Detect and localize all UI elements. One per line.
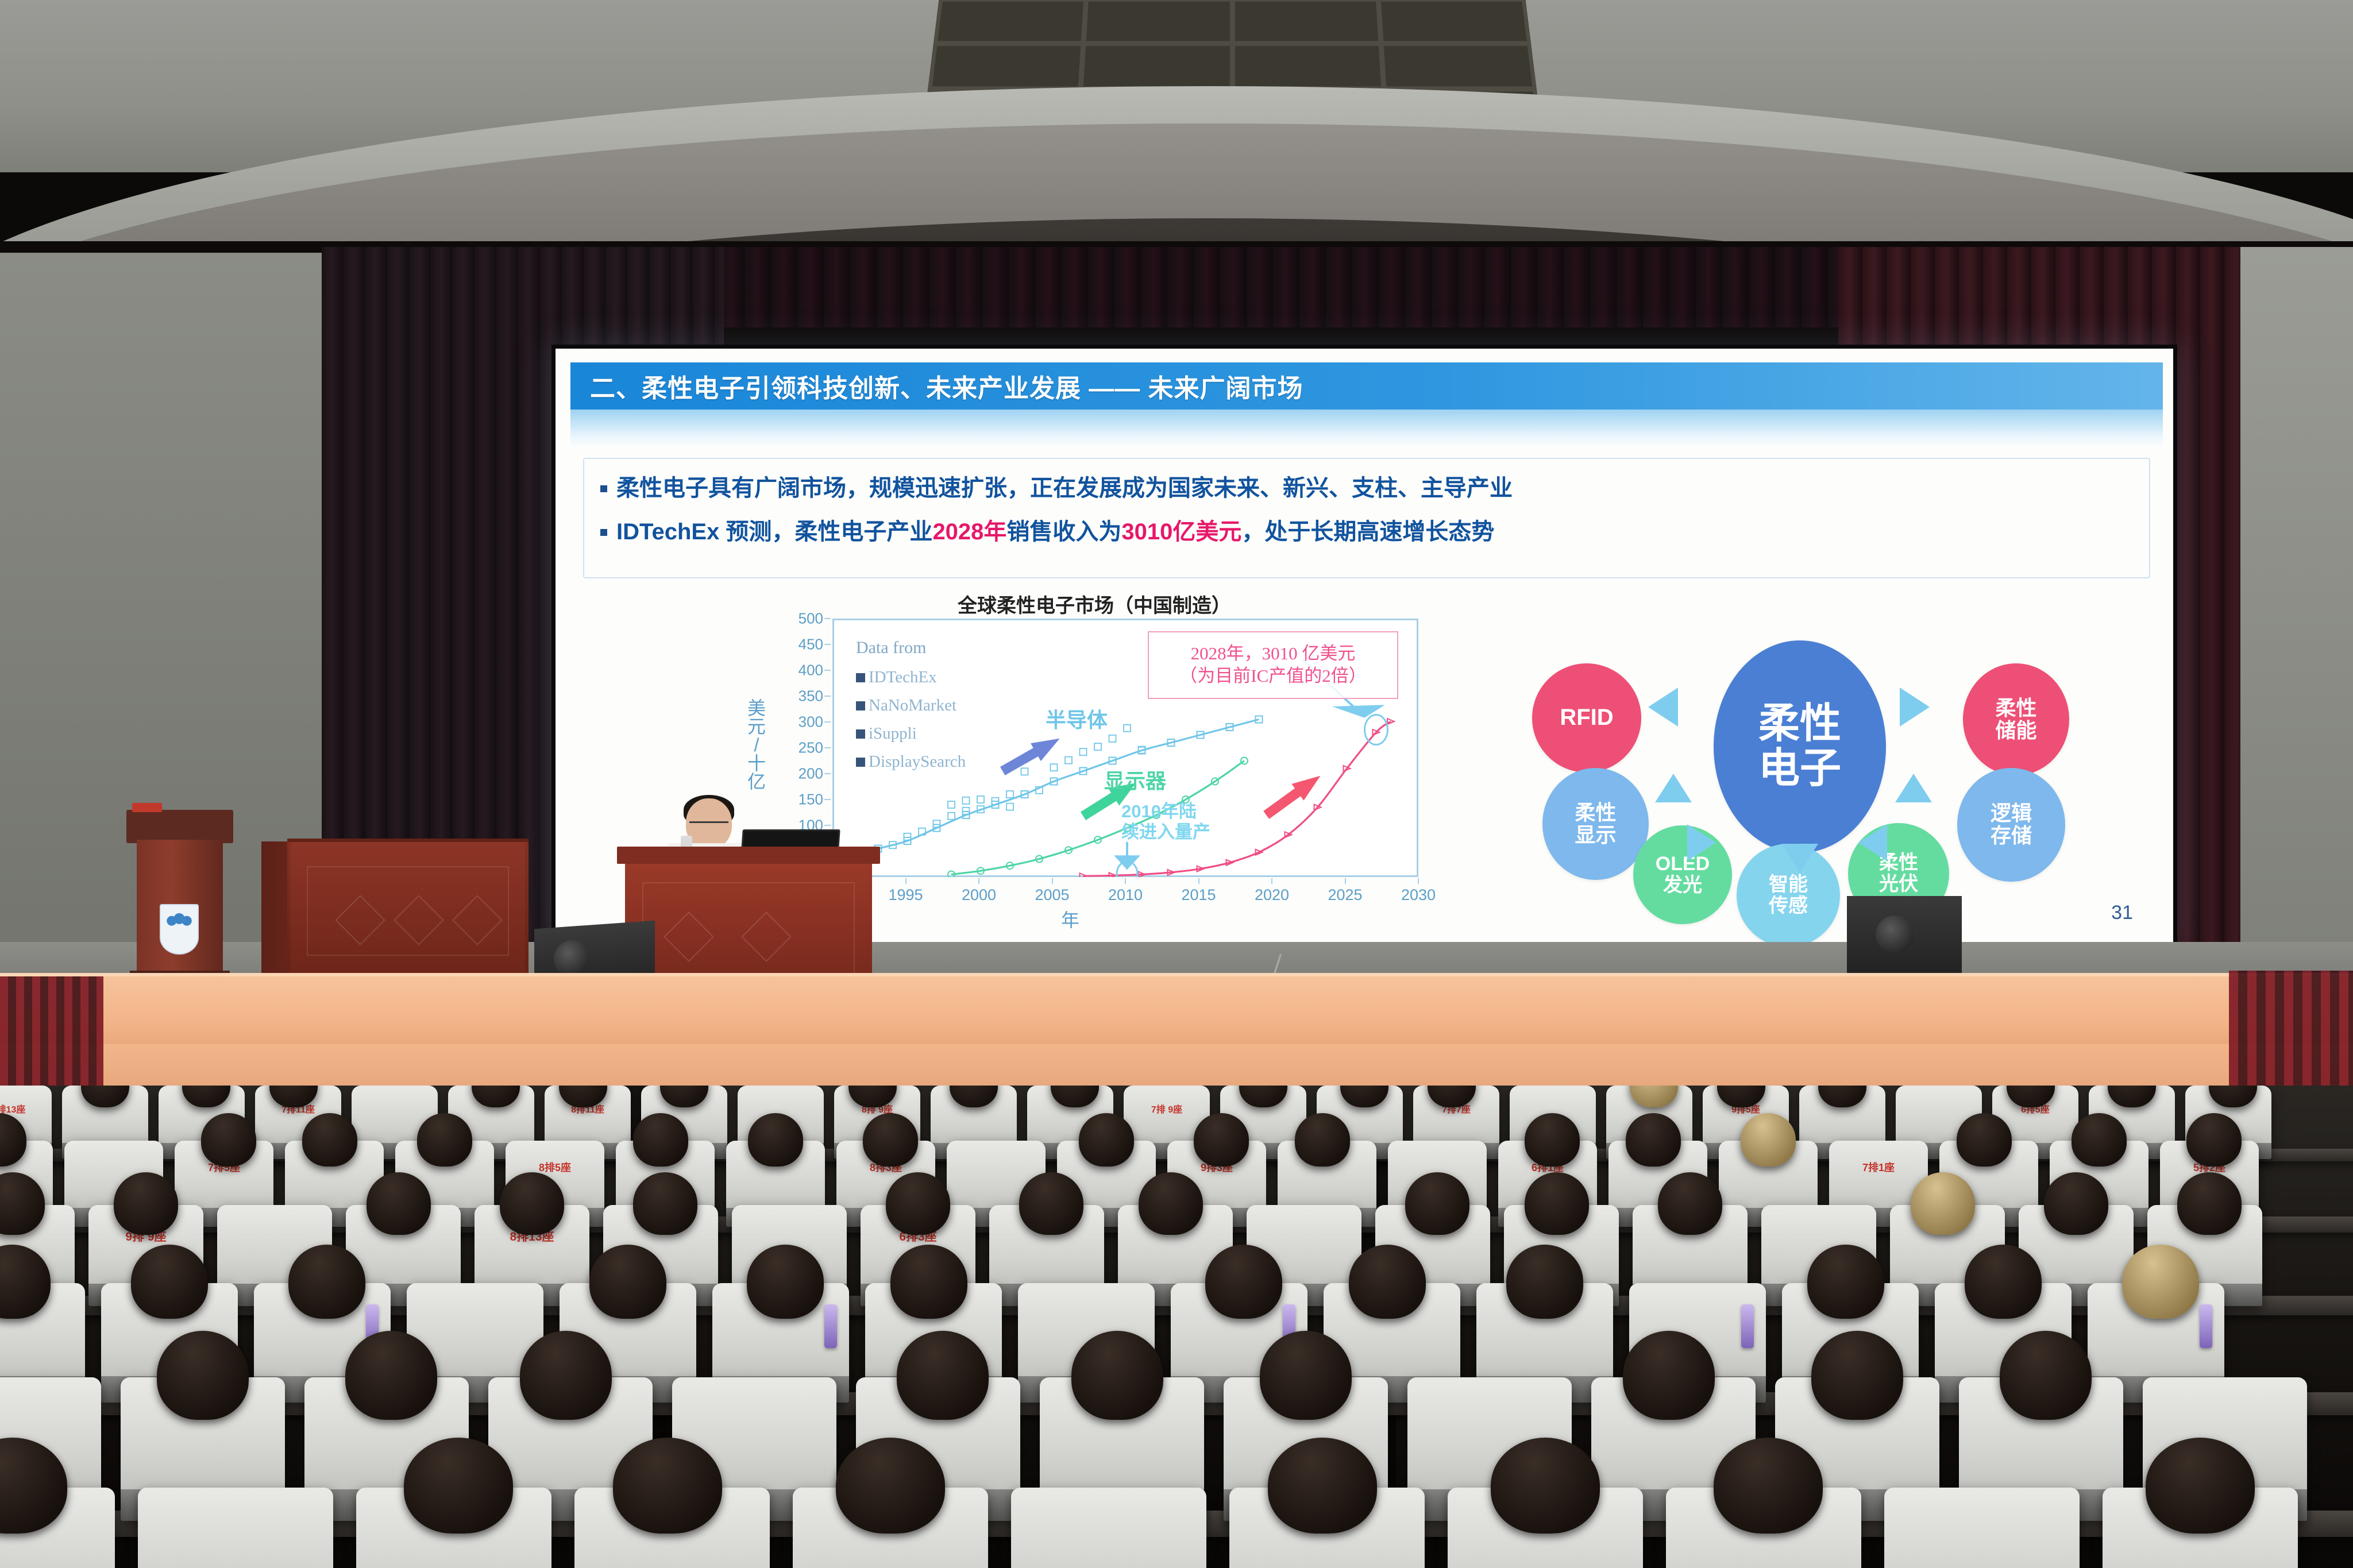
audience-member [1714,1438,1823,1534]
desk-ledge [617,847,880,864]
audience-member [589,1245,666,1319]
audience-member [201,1113,256,1167]
bubble-arrow-icon [1900,688,1930,727]
bubble-flexible-storage[interactable]: 柔性储能 [1963,663,2069,775]
bubble-oled-emission[interactable]: OLED发光 [1633,825,1732,924]
slide-title-gradient [570,410,2163,447]
y-axis-label-char: 亿 [739,773,774,791]
x-tick-mark [1418,878,1419,884]
scatter-point [1006,804,1013,810]
water-bottle [2200,1304,2212,1348]
audience-member [1071,1331,1163,1420]
chart-heading: 全球柔性电子市场（中国制造） [958,590,1231,618]
bullet2-year-highlight: 2028年 [932,519,1006,544]
y-axis-label-char: 美 [739,699,774,717]
bubble-label-line1: 逻辑 [1991,802,2032,825]
water-bottle [824,1304,837,1348]
seat-label: 8排5座 [506,1160,604,1175]
audience-member [748,1113,803,1167]
audience-member [1911,1172,1975,1235]
audience-member [633,1172,697,1235]
audience-member [1491,1438,1600,1534]
audience-member [863,1113,918,1167]
audience-member [1405,1172,1469,1235]
audience-member [404,1438,513,1534]
callout-line-2: （为目前IC产值的2倍） [1179,665,1367,688]
y-tick-label: 450 [799,636,823,654]
chart-x-axis-label: 年 [1061,906,1079,932]
bubble-arrow-icon [1895,774,1932,802]
audience-seat[interactable] [138,1488,333,1568]
bubble-flexible-display[interactable]: 柔性显示 [1542,768,1649,880]
bullet2-value-highlight: 3010亿美元 [1121,519,1241,544]
audience-member [2146,1438,2255,1534]
audience-member [2122,1245,2198,1319]
x-tick-label: 2030 [1401,886,1436,904]
mass-production-label: 2010年陆 续进入量产 [1121,801,1210,842]
scatter-point [948,813,955,820]
audience-member [2177,1172,2242,1235]
bubble-arrow-icon [1655,774,1692,802]
audience-member [417,1113,472,1167]
audience-member [747,1245,823,1319]
presenter-glasses [689,821,728,828]
x-tick-label: 2015 [1181,886,1216,904]
bullet-text-1: 柔性电子具有广阔市场，规模迅速扩张，正在发展成为国家未来、新兴、支柱、主导产业 [616,474,1513,503]
audience-member [2072,1113,2127,1167]
audience-member [886,1172,950,1235]
bubble-label-line2: 光伏 [1879,874,1918,895]
audience-member [345,1331,437,1420]
slide-title: 二、柔性电子引领科技创新、未来产业发展 —— 未来广阔市场 [570,368,1303,404]
bullet-text-2: IDTechEx 预测，柔性电子产业2028年销售收入为3010亿美元，处于长期… [616,517,1494,546]
audience-member [836,1438,945,1534]
x-tick-label: 1995 [888,886,923,904]
callout-line-1: 2028年，3010 亿美元 [1191,643,1356,665]
y-tick-mark [824,721,831,723]
audience-seating: 7排13座7排11座8排11座8排 9座7排 9座7排7座9排5座6排5座7排5… [0,1086,2353,1568]
audience-member [1268,1438,1377,1534]
lectern [137,810,223,982]
audience-member [1957,1113,2012,1167]
audience-member [1658,1172,1722,1235]
scatter-point [1124,725,1131,732]
audience-member [131,1245,207,1319]
scatter-point [977,796,984,803]
audience-member [1965,1245,2041,1319]
y-axis-label-char: 十 [739,754,774,773]
slide-title-bar: 二、柔性电子引领科技创新、未来产业发展 —— 未来广阔市场 [570,362,2163,410]
slide-bullet-list: 柔性电子具有广阔市场，规模迅速扩张，正在发展成为国家未来、新兴、支柱、主导产业 … [583,458,2150,578]
lectern-top [126,810,233,843]
x-tick-mark [1198,878,1199,884]
audience-member [1019,1172,1083,1235]
bubble-arrow-icon [1648,688,1678,727]
scatter-point [948,801,955,808]
audience-member [520,1331,612,1420]
audience-member [2044,1172,2108,1235]
lectern-red-marker [132,803,162,812]
y-tick-label: 300 [799,713,823,731]
audience-seat[interactable] [1884,1488,2080,1568]
bubble-label-line2: 显示 [1575,824,1616,847]
y-tick-mark [824,773,831,774]
y-axis-label-char: / [739,736,774,754]
stage-apron [0,976,2353,1045]
bubble-label-line2: 发光 [1656,875,1710,896]
bubble-center-line1: 柔性 [1758,702,1841,747]
bullet-square-icon [600,485,607,492]
bubble-logic-memory[interactable]: 逻辑存储 [1957,768,2065,882]
x-tick-label: 2010 [1108,886,1143,904]
audience-member [1194,1113,1249,1167]
audience-member [114,1172,178,1235]
highlight-ellipse-2028 [1365,715,1388,745]
bullet2-prefix: IDTechEx 预测，柔性电子产业 [616,519,932,544]
x-tick-mark [905,878,907,884]
bullet-square-icon [600,529,607,536]
bubble-rfid[interactable]: RFID [1532,663,1641,773]
audience-member [1205,1245,1282,1319]
audience-member [1079,1113,1134,1167]
bullet-item-2: IDTechEx 预测，柔性电子产业2028年销售收入为3010亿美元，处于长期… [600,517,2136,546]
y-tick-label: 350 [799,688,823,705]
series-marker [1387,719,1394,724]
y-tick-label: 400 [799,662,823,679]
y-tick-mark [824,644,831,645]
audience-member [2186,1113,2242,1167]
y-tick-mark [824,825,831,826]
bubble-label-line2: 储能 [1995,720,2036,742]
x-tick-mark [978,878,979,884]
chart-callout-2028: 2028年，3010 亿美元 （为目前IC产值的2倍） [1148,631,1398,699]
chart-plot-area: Data from IDTechEx NaNoMarket iSuppli Di… [832,619,1418,877]
bubble-center-line2: 电子 [1758,747,1841,791]
x-tick-mark [1345,878,1346,884]
seat-label: 7排13座 [0,1102,52,1115]
audience-member [1139,1172,1203,1235]
x-tick-label: 2000 [962,886,996,904]
seat-label: 7排1座 [1829,1160,1928,1175]
audience-member [1626,1113,1681,1167]
emphasis-arrow [997,729,1064,780]
series-line-2 [1083,721,1391,876]
x-tick-label: 2025 [1328,886,1362,904]
bubble-arrow-icon [1858,824,1887,861]
scatter-point [1080,748,1087,755]
audience-member [1260,1331,1352,1420]
audience-member [1525,1113,1580,1167]
bubble-label-line1: RFID [1560,705,1613,730]
bubble-center-flexible-electronics[interactable]: 柔性电子 [1714,640,1886,853]
lectern-body [137,840,223,971]
audience-member [1525,1172,1589,1235]
bullet2-suffix: ，处于长期高速增长态势 [1241,519,1494,544]
audience-member [1349,1245,1425,1319]
audience-member [633,1113,688,1167]
display-curve-label: 显示器 [1104,764,1166,794]
scatter-point [1065,757,1072,764]
audience-member [1741,1113,1796,1167]
auditorium-scene: 二、柔性电子引领科技创新、未来产业发展 —— 未来广阔市场 柔性电子具有广阔市场… [0,0,2353,1568]
audience-member [2000,1331,2092,1420]
x-tick-label: 2020 [1255,886,1289,904]
bubble-arrow-icon [1687,824,1716,861]
presenter-desk [625,856,872,991]
audience-member [1811,1331,1903,1420]
x-tick-mark [1052,878,1053,884]
bullet2-mid: 销售收入为 [1006,519,1121,544]
audience-member [890,1245,967,1319]
audience-member [367,1172,431,1235]
emphasis-arrow [1260,767,1326,823]
flexible-electronics-bubble-diagram: 柔性电子RFID柔性储能柔性显示逻辑存储OLED发光智能传感柔性光伏 [1498,596,2107,917]
y-tick-mark [824,799,831,800]
audience-member [897,1331,989,1420]
audience-member [302,1113,357,1167]
scatter-point [1051,764,1058,771]
y-tick-label: 200 [799,765,823,783]
x-tick-mark [1125,878,1126,884]
bubble-arrow-icon [1781,844,1818,872]
callout-arrowhead [1332,705,1385,718]
scatter-point [963,797,970,804]
chart-y-axis-label: 美元/十亿 [739,699,774,791]
y-tick-label: 150 [799,791,823,809]
scatter-point [1094,743,1101,750]
slide-page-number: 31 [2111,902,2133,924]
y-tick-label: 500 [799,610,823,628]
x-tick-label: 2005 [1035,886,1069,904]
audience-member [1807,1245,1884,1319]
audience-member [613,1438,722,1534]
y-tick-mark [824,670,831,671]
audience-member [288,1245,365,1319]
stage-bench-main [287,839,529,982]
scatter-point [1006,791,1013,798]
series-marker [1080,873,1087,877]
audience-seat[interactable] [1011,1488,1206,1568]
audience-member [157,1331,249,1420]
bubble-label-line1: 柔性 [1575,802,1616,824]
x-tick-mark [1271,878,1272,884]
bubble-label-line1: 柔性 [1995,697,2036,720]
bullet-item-1: 柔性电子具有广阔市场，规模迅速扩张，正在发展成为国家未来、新兴、支柱、主导产业 [600,474,2136,503]
chart-x-ticks: 19952000200520102015202020252030 [832,878,1418,901]
audience-member [500,1172,564,1235]
y-tick-label: 250 [799,739,823,757]
y-tick-mark [824,618,831,619]
y-axis-label-char: 元 [739,717,774,736]
audience-member [1295,1113,1350,1167]
bubble-label-line2: 存储 [1991,825,2032,847]
audience-member [1623,1331,1715,1420]
y-tick-mark [824,696,831,697]
seat-label: 7排 9座 [1124,1102,1210,1115]
bubble-label-line1: 智能 [1769,874,1808,895]
audience-member [1506,1245,1583,1319]
university-crest-icon [160,904,199,955]
scatter-point [1109,735,1116,742]
bubble-label-line2: 传感 [1769,895,1808,917]
semiconductor-curve-label: 半导体 [1046,704,1108,733]
y-tick-mark [824,747,831,748]
scatter-point [1021,768,1028,775]
water-bottle [1741,1304,1754,1348]
